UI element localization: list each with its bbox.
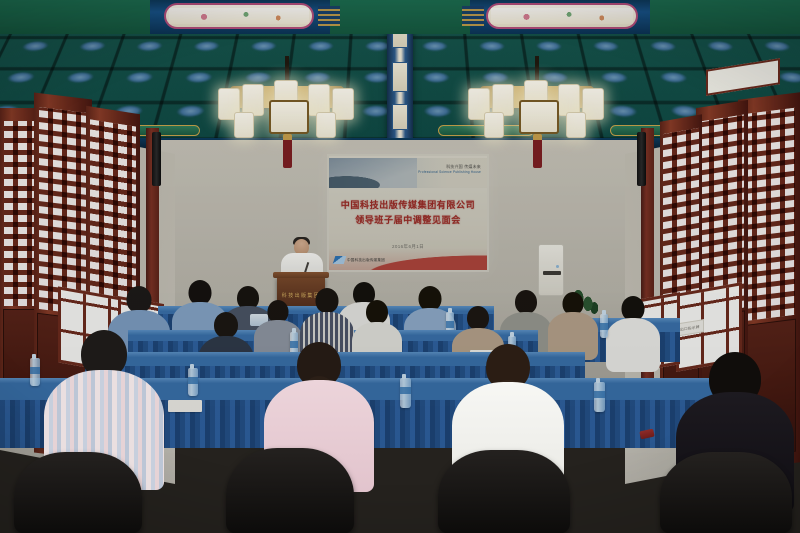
water-bottle bbox=[30, 358, 40, 386]
conference-room-photo: 科技兴国 传媒未来 Professional Science Publishin… bbox=[0, 0, 800, 533]
person-head bbox=[366, 300, 388, 324]
fascia-key-pattern bbox=[462, 6, 484, 26]
fascia-green-section bbox=[650, 0, 800, 34]
lattice-panes bbox=[743, 108, 795, 322]
beam-panel bbox=[392, 104, 408, 130]
chair[interactable] bbox=[226, 448, 354, 533]
person-head bbox=[214, 312, 238, 338]
slide-banner-en: Professional Science Publishing House bbox=[418, 170, 481, 174]
slide-logo-label: 中国科技出版传媒集团 bbox=[347, 258, 385, 263]
person-head bbox=[467, 306, 489, 330]
chandelier-center-lantern bbox=[519, 100, 559, 134]
floor-air-conditioner bbox=[538, 244, 564, 296]
wall-speaker-left bbox=[152, 132, 161, 186]
wall-speaker-right bbox=[637, 132, 646, 186]
water-bottle bbox=[600, 314, 608, 338]
fascia-green-section bbox=[330, 0, 470, 34]
logo-mark-icon bbox=[333, 256, 347, 264]
fascia-key-pattern bbox=[318, 6, 340, 26]
chandelier-right bbox=[462, 56, 612, 166]
lattice-panes bbox=[39, 107, 88, 315]
chandelier-tassel bbox=[533, 134, 542, 168]
slide-title-line2: 领导班子届中调整见面会 bbox=[329, 213, 487, 228]
lantern-shade bbox=[316, 112, 336, 138]
beam-panel bbox=[392, 62, 408, 92]
slide-title-line1: 中国科技出版传媒集团有限公司 bbox=[329, 198, 487, 213]
fascia-flower-panel bbox=[486, 3, 638, 29]
person-head bbox=[316, 288, 339, 313]
slide-title: 中国科技出版传媒集团有限公司 领导班子届中调整见面会 bbox=[329, 198, 487, 228]
water-bottle bbox=[594, 382, 605, 412]
chandelier-tassel bbox=[283, 134, 292, 168]
fascia-flower-panel bbox=[164, 3, 314, 29]
lattice-panes bbox=[663, 128, 698, 313]
person-head bbox=[127, 286, 152, 313]
podium-top-surface bbox=[273, 272, 329, 278]
chair[interactable] bbox=[438, 450, 570, 533]
water-bottle bbox=[400, 378, 411, 408]
lantern-shade bbox=[484, 112, 504, 138]
chandelier-left bbox=[212, 56, 362, 166]
chandelier-center-lantern bbox=[269, 100, 309, 134]
person-head bbox=[515, 290, 537, 314]
projection-screen: 科技兴国 传媒未来 Professional Science Publishin… bbox=[327, 154, 489, 272]
audience-member bbox=[606, 296, 660, 372]
chair[interactable] bbox=[14, 452, 142, 533]
presentation-slide: 科技兴国 传媒未来 Professional Science Publishin… bbox=[329, 156, 487, 270]
lantern-shade bbox=[234, 112, 254, 138]
lattice-panes bbox=[90, 120, 135, 312]
person-torso bbox=[606, 318, 660, 372]
ac-vent bbox=[543, 271, 561, 275]
lantern-shade bbox=[566, 112, 586, 138]
slide-logo: 中国科技出版传媒集团 bbox=[334, 256, 385, 264]
fascia-green-section bbox=[0, 0, 150, 34]
water-bottle bbox=[188, 368, 198, 396]
chair[interactable] bbox=[660, 452, 792, 533]
paper-document bbox=[168, 400, 202, 412]
ac-indicator-light bbox=[556, 265, 559, 268]
